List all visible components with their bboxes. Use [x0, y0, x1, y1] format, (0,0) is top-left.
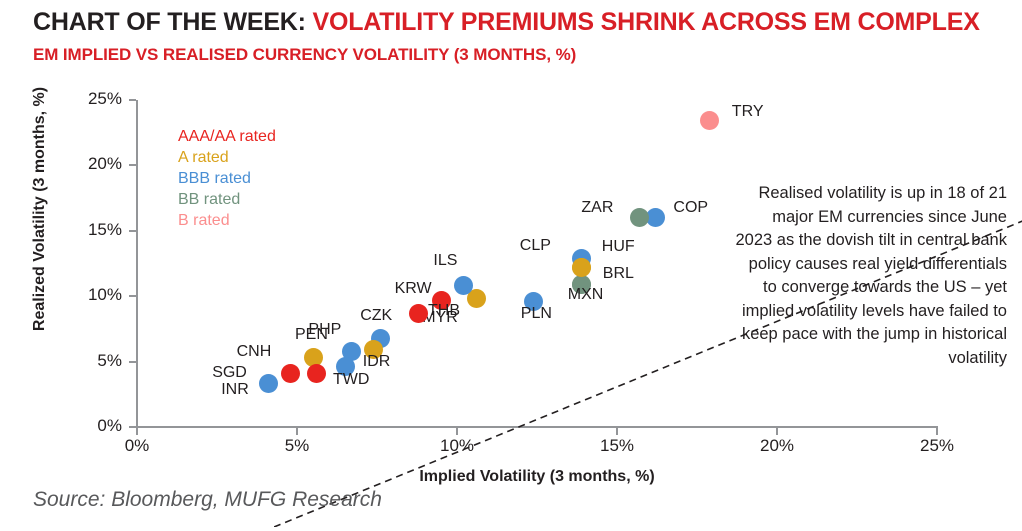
x-tick-label: 25%	[902, 436, 972, 456]
legend-item-b-rated[interactable]: B rated	[178, 210, 276, 231]
scatter-point-huf2[interactable]	[572, 258, 591, 277]
annotation-text: Realised volatility is up in 18 of 21 ma…	[735, 182, 1007, 370]
point-label-twd: TWD	[333, 371, 369, 389]
point-label-zar: ZAR	[581, 199, 613, 217]
y-tick-label: 10%	[60, 285, 122, 305]
point-label-ils: ILS	[433, 252, 457, 270]
y-tick-mark	[129, 295, 136, 297]
legend-item-aaa-aa-rated[interactable]: AAA/AA rated	[178, 126, 276, 147]
point-label-brl: BRL	[603, 265, 634, 283]
point-label-idr: IDR	[363, 353, 391, 371]
x-tick-label: 0%	[102, 436, 172, 456]
point-label-krw: KRW	[395, 280, 432, 298]
scatter-point-inr[interactable]	[307, 364, 326, 383]
scatter-point-cnh[interactable]	[281, 364, 300, 383]
x-tick-mark	[296, 428, 298, 435]
point-label-pen: PEN	[295, 326, 328, 344]
y-tick-label: 15%	[60, 220, 122, 240]
point-label-thb: THB	[428, 302, 460, 320]
x-tick-label: 20%	[742, 436, 812, 456]
scatter-point-ils[interactable]	[454, 276, 473, 295]
y-axis-title: Realized Volatility (3 months, %)	[31, 44, 49, 374]
y-tick-label: 0%	[60, 416, 122, 436]
x-tick-mark	[616, 428, 618, 435]
y-tick-mark	[129, 99, 136, 101]
scatter-point-krw[interactable]	[409, 304, 428, 323]
point-label-pln: PLN	[521, 305, 552, 323]
x-tick-label: 10%	[422, 436, 492, 456]
x-tick-mark	[936, 428, 938, 435]
legend-item-a-rated[interactable]: A rated	[178, 147, 276, 168]
y-tick-label: 25%	[60, 89, 122, 109]
y-tick-label: 20%	[60, 154, 122, 174]
x-tick-label: 15%	[582, 436, 652, 456]
scatter-point-try[interactable]	[700, 111, 719, 130]
title-prefix: CHART OF THE WEEK:	[33, 8, 313, 36]
legend-item-bbb-rated[interactable]: BBB rated	[178, 168, 276, 189]
x-tick-mark	[456, 428, 458, 435]
point-label-clp: CLP	[520, 237, 551, 255]
legend-item-bb-rated[interactable]: BB rated	[178, 189, 276, 210]
scatter-point-sgd[interactable]	[259, 374, 278, 393]
y-tick-label: 5%	[60, 351, 122, 371]
page-title: CHART OF THE WEEK: VOLATILITY PREMIUMS S…	[33, 8, 1008, 37]
y-tick-mark	[129, 426, 136, 428]
legend: AAA/AA ratedA ratedBBB ratedBB ratedB ra…	[178, 126, 276, 231]
point-label-czk: CZK	[360, 307, 392, 325]
x-tick-mark	[136, 428, 138, 435]
point-label-sgd: SGD	[212, 364, 247, 382]
y-tick-mark	[129, 230, 136, 232]
point-label-inr: INR	[221, 381, 249, 399]
scatter-point-zar[interactable]	[630, 208, 649, 227]
x-axis-title: Implied Volatility (3 months, %)	[137, 468, 937, 486]
x-tick-mark	[776, 428, 778, 435]
y-tick-mark	[129, 164, 136, 166]
point-label-cnh: CNH	[237, 343, 272, 361]
y-tick-mark	[129, 361, 136, 363]
point-label-try: TRY	[732, 103, 764, 121]
point-label-mxn: MXN	[568, 286, 604, 304]
title-main: VOLATILITY PREMIUMS SHRINK ACROSS EM COM…	[313, 8, 980, 36]
source-note: Source: Bloomberg, MUFG Research	[33, 488, 382, 512]
chart-root: CHART OF THE WEEK: VOLATILITY PREMIUMS S…	[0, 0, 1022, 531]
x-tick-label: 5%	[262, 436, 332, 456]
point-label-cop: COP	[673, 199, 708, 217]
chart-subtitle: EM IMPLIED VS REALISED CURRENCY VOLATILI…	[33, 45, 576, 65]
point-label-huf: HUF	[602, 238, 635, 256]
